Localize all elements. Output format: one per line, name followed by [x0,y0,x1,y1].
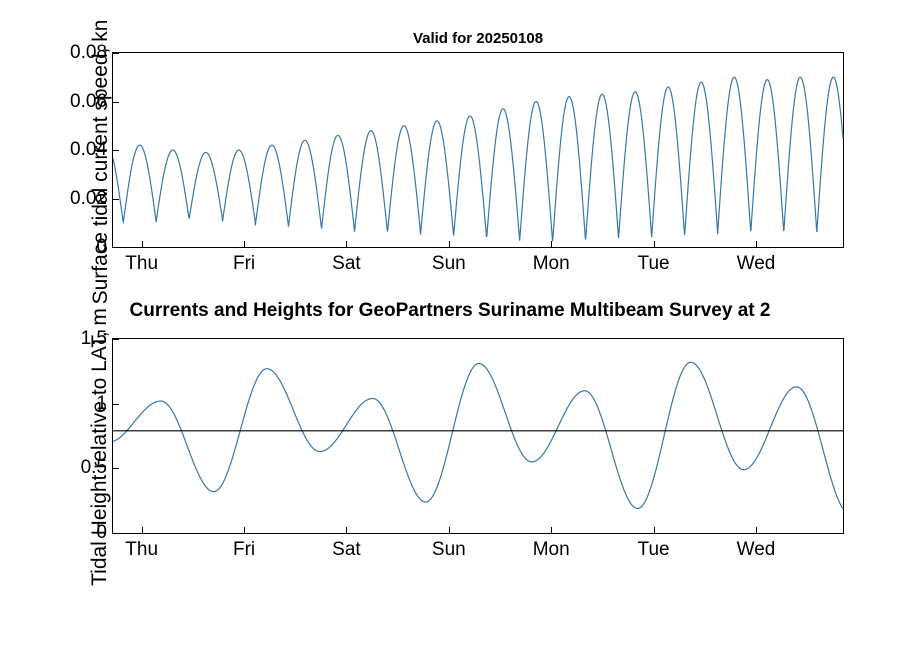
bottom-chart-curve [113,362,843,508]
x-tick-label: Wed [737,253,776,275]
x-tick-label: Fri [233,539,255,561]
y-tick-label: 1 [96,393,107,415]
bottom-chart-y-axis-label: Tidal Height relative to LAT, m [88,237,112,657]
x-tick-label: Tue [638,539,670,561]
y-tick-mark [113,339,119,340]
x-tick-mark [654,527,655,533]
x-tick-label: Thu [125,253,158,275]
top-chart-curve [113,77,843,241]
y-tick-mark [113,102,119,103]
x-tick-mark [244,241,245,247]
x-tick-label: Sat [332,539,361,561]
x-tick-mark [244,527,245,533]
x-tick-mark [756,241,757,247]
x-tick-mark [654,241,655,247]
x-tick-mark [449,527,450,533]
x-tick-label: Mon [533,253,570,275]
x-tick-mark [142,241,143,247]
top-chart-title: Valid for 20250108 [112,30,844,47]
figure-supertitle: Currents and Heights for GeoPartners Sur… [0,300,900,322]
x-tick-mark [142,527,143,533]
x-tick-mark [449,241,450,247]
y-tick-mark [113,533,119,534]
x-tick-mark [551,527,552,533]
x-tick-label: Sat [332,253,361,275]
y-tick-label: 0.08 [70,42,107,64]
bottom-chart-line-series [113,339,845,535]
x-tick-label: Sun [432,253,466,275]
x-tick-label: Wed [737,539,776,561]
y-tick-mark [113,199,119,200]
y-tick-mark [113,247,119,248]
top-chart-plot-area: 00.020.040.060.08ThuFriSatSunMonTueWed [112,52,844,248]
x-tick-label: Fri [233,253,255,275]
y-tick-label: 0 [96,522,107,544]
x-tick-mark [346,241,347,247]
y-tick-label: 0.5 [81,457,107,479]
bottom-chart-plot-area: 00.511.5ThuFriSatSunMonTueWed [112,338,844,534]
x-tick-mark [756,527,757,533]
x-tick-label: Tue [638,253,670,275]
y-tick-label: 0.02 [70,188,107,210]
x-tick-mark [551,241,552,247]
top-chart-line-series [113,53,845,249]
y-tick-mark [113,404,119,405]
x-tick-mark [346,527,347,533]
x-tick-label: Mon [533,539,570,561]
y-tick-label: 0.04 [70,139,107,161]
y-tick-label: 0.06 [70,91,107,113]
y-tick-mark [113,150,119,151]
x-tick-label: Thu [125,539,158,561]
y-tick-mark [113,468,119,469]
y-tick-mark [113,53,119,54]
y-tick-label: 1.5 [81,328,107,350]
x-tick-label: Sun [432,539,466,561]
figure-canvas: Valid for 20250108 Surface tidal current… [0,0,900,600]
